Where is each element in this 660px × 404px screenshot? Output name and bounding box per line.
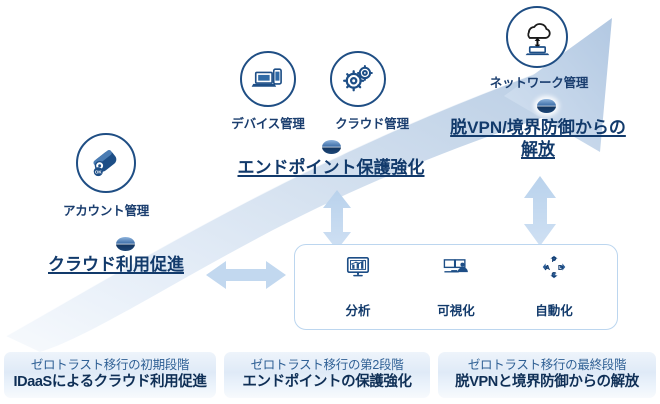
stage3-heading: 脱VPN/境界防御からの 解放 bbox=[438, 117, 638, 161]
horizontal-double-arrow bbox=[206, 261, 286, 289]
vertical-double-arrow-right bbox=[524, 176, 556, 246]
stage3-heading-line2: 解放 bbox=[521, 140, 555, 159]
diagram-canvas: OK アカウント管理 デバイス管理 bbox=[0, 0, 660, 404]
stage1-marker bbox=[116, 237, 135, 251]
phase3-kicker: ゼロトラスト移行の最終段階 bbox=[468, 358, 626, 374]
device-management-badge[interactable] bbox=[240, 51, 296, 107]
capability-visualization-label: 可視化 bbox=[424, 300, 488, 319]
pdca-c: C bbox=[551, 270, 557, 279]
capability-visualization[interactable]: 可視化 bbox=[424, 251, 488, 319]
stage3-heading-line1: 脱VPN/境界防御からの bbox=[450, 118, 626, 137]
account-management-icon: OK bbox=[76, 133, 136, 193]
phase1-kicker: ゼロトラスト移行の初期段階 bbox=[31, 358, 189, 374]
capability-analysis[interactable]: 分析 bbox=[326, 251, 390, 319]
capability-analysis-label: 分析 bbox=[326, 300, 390, 319]
network-management-badge[interactable] bbox=[506, 6, 568, 68]
phase3-pill[interactable]: ゼロトラスト移行の最終段階 脱VPNと境界防御からの解放 bbox=[438, 352, 656, 398]
phase1-pill[interactable]: ゼロトラスト移行の初期段階 IDaaSによるクラウド利用促進 bbox=[4, 352, 216, 398]
device-management-label: デバイス管理 bbox=[231, 113, 304, 132]
cloud-management-label: クラウド管理 bbox=[335, 113, 409, 132]
phase2-kicker: ゼロトラスト移行の第2段階 bbox=[251, 358, 404, 374]
capability-panel: 分析 可視化 bbox=[294, 244, 618, 330]
stage1-heading: クラウド利用促進 bbox=[26, 255, 206, 276]
analytics-monitor-icon bbox=[335, 251, 381, 297]
pdca-p: P bbox=[552, 255, 557, 264]
network-management-icon bbox=[506, 6, 568, 68]
account-management-label: アカウント管理 bbox=[63, 200, 149, 219]
phase1-title: IDaaSによるクラウド利用促進 bbox=[14, 373, 207, 392]
pdca-cycle-icon: P D C A bbox=[531, 251, 577, 297]
device-management-icon bbox=[240, 51, 296, 107]
svg-text:OK: OK bbox=[95, 170, 103, 175]
stage3-marker bbox=[537, 99, 556, 113]
cloud-management-icon bbox=[330, 51, 386, 107]
stage2-heading: エンドポイント保護強化 bbox=[231, 158, 431, 179]
pdca-d: D bbox=[558, 263, 563, 272]
pdca-a: A bbox=[545, 263, 551, 272]
network-management-label: ネットワーク管理 bbox=[490, 72, 588, 91]
stage2-marker bbox=[322, 140, 341, 154]
visualization-desk-icon bbox=[433, 251, 479, 297]
cloud-management-badge[interactable] bbox=[330, 51, 386, 107]
capability-automation[interactable]: P D C A 自動化 bbox=[522, 251, 586, 319]
account-management-badge[interactable]: OK bbox=[76, 133, 136, 193]
phase3-title: 脱VPNと境界防御からの解放 bbox=[455, 373, 639, 392]
capability-automation-label: 自動化 bbox=[522, 300, 586, 319]
phase2-pill[interactable]: ゼロトラスト移行の第2段階 エンドポイントの保護強化 bbox=[224, 352, 430, 398]
vertical-double-arrow-center bbox=[323, 190, 351, 250]
phase2-title: エンドポイントの保護強化 bbox=[242, 373, 411, 392]
